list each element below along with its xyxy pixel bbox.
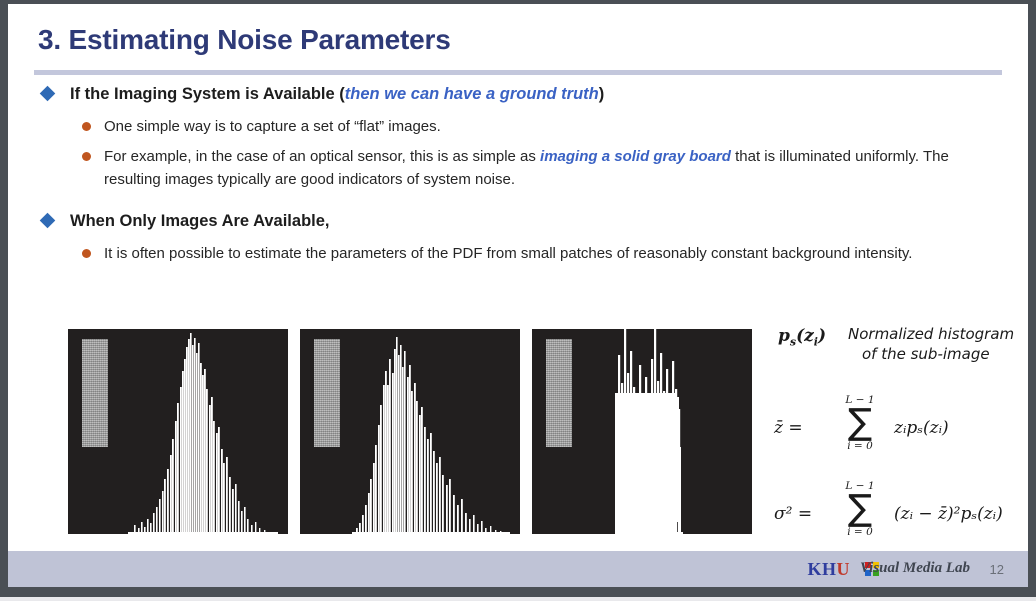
diamond-bullet-icon	[40, 213, 56, 229]
slide-canvas: 3. Estimating Noise Parameters If the Im…	[8, 4, 1028, 587]
slide-viewport: 3. Estimating Noise Parameters If the Im…	[0, 0, 1036, 601]
section-heading-imaging-system: If the Imaging System is Available (then…	[8, 82, 1028, 108]
slide-content: If the Imaging System is Available (then…	[8, 82, 1028, 265]
khu-letter-h: H	[822, 559, 837, 579]
histogram-plot	[532, 329, 752, 534]
bullet-flat-images: One simple way is to capture a set of “f…	[8, 115, 1028, 138]
bullet-estimate-pdf: It is often possible to estimate the par…	[8, 242, 1028, 265]
title-divider	[34, 70, 1002, 75]
summation-sigma-icon: ∑	[832, 406, 888, 440]
lab-name: Visual Media Lab	[860, 560, 970, 577]
bullet-pre-text: For example, in the case of an optical s…	[104, 148, 540, 165]
equation-mean: z̄ = L − 1 ∑ i = 0 zᵢpₛ(zᵢ)	[766, 392, 1016, 464]
summation-lower-limit: i = 0	[832, 526, 888, 538]
page-title: 3. Estimating Noise Parameters	[38, 24, 451, 56]
ps-symbol: ps(zi)	[778, 326, 826, 348]
diamond-bullet-icon	[40, 86, 56, 102]
khu-letter-k: K	[807, 559, 822, 579]
bullet-optical-sensor: For example, in the case of an optical s…	[8, 145, 1028, 191]
bullet-text: For example, in the case of an optical s…	[104, 148, 949, 188]
math-annotations: ps(zi) Normalized histogramof the sub-im…	[766, 322, 1016, 550]
slide-footer: KHU Visual Media Lab 12	[8, 551, 1028, 587]
equation-rhs: (zᵢ − z̄)²pₛ(zᵢ)	[894, 504, 1003, 524]
summation-lower-limit: i = 0	[832, 440, 888, 452]
section-heading-only-images: When Only Images Are Available,	[8, 209, 1028, 235]
section-heading-text: When Only Images Are Available,	[70, 212, 330, 230]
bullet-text: One simple way is to capture a set of “f…	[104, 118, 441, 135]
bullet-text: It is often possible to estimate the par…	[104, 245, 912, 262]
ps-arg-open: (z	[796, 326, 814, 346]
histogram-plot	[300, 329, 520, 534]
histogram-plot	[68, 329, 288, 534]
histogram-figure-row	[68, 329, 752, 534]
equation-variance: σ² = L − 1 ∑ i = 0 (zᵢ − z̄)²pₛ(zᵢ)	[766, 478, 1016, 550]
heading-close-paren: )	[599, 85, 605, 103]
summation-group: L − 1 ∑ i = 0	[832, 480, 888, 538]
equation-lhs: σ² =	[774, 504, 812, 524]
rayleigh-noise-histogram	[300, 329, 520, 534]
khu-letter-u: U	[837, 559, 851, 579]
ps-description: Normalized histogramof the sub-image	[848, 324, 1016, 364]
dot-bullet-icon	[82, 249, 91, 258]
uniform-noise-histogram	[532, 329, 752, 534]
summation-sigma-icon: ∑	[832, 492, 888, 526]
summation-group: L − 1 ∑ i = 0	[832, 394, 888, 452]
ps-description-line2: of the sub-image	[848, 344, 1016, 364]
ps-description-line1: Normalized histogram	[848, 325, 1014, 343]
section-spacer	[8, 191, 1028, 209]
dot-bullet-icon	[82, 122, 91, 131]
page-number: 12	[990, 562, 1004, 577]
window-bottom-edge	[0, 597, 1036, 601]
heading-plain-text: If the Imaging System is Available (	[70, 85, 345, 103]
equation-lhs: z̄ =	[774, 418, 803, 438]
gaussian-noise-histogram	[68, 329, 288, 534]
bullet-highlight-text: imaging a solid gray board	[540, 148, 731, 165]
khu-logo: KHU	[807, 559, 850, 580]
equation-rhs: zᵢpₛ(zᵢ)	[894, 418, 949, 438]
section-heading-text: If the Imaging System is Available (then…	[70, 85, 604, 103]
ps-definition: ps(zi) Normalized histogramof the sub-im…	[766, 322, 1016, 378]
ps-arg-close: )	[818, 326, 826, 346]
ps-p: p	[778, 326, 790, 346]
dot-bullet-icon	[82, 152, 91, 161]
heading-highlight-text: then we can have a ground truth	[345, 85, 599, 103]
